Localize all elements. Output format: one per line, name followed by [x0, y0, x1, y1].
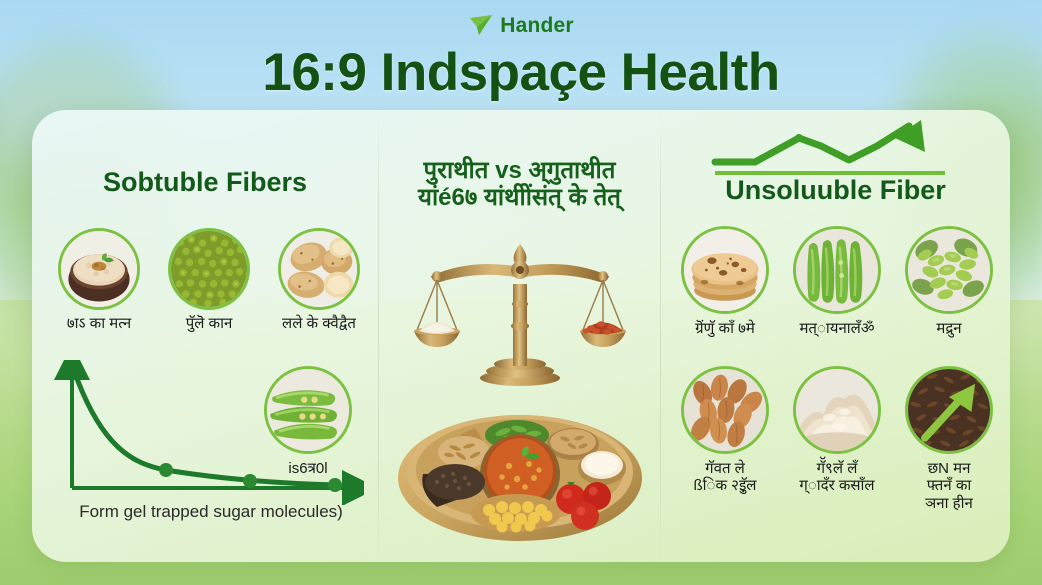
- insoluble-food-row-2: गॅवत ले ßिक २इुॅल: [669, 366, 1005, 512]
- panel-insoluble-fiber: Unsoluuble Fiber: [661, 110, 1010, 562]
- sugar-absorption-curve-chart: [54, 360, 364, 505]
- upward-trend-arrow-icon: [709, 118, 959, 180]
- almonds-image: [681, 366, 769, 454]
- insoluble-fiber-heading: Unsoluuble Fiber: [661, 176, 1010, 206]
- indian-thali-image: [389, 382, 651, 547]
- food-label: मद्रुन: [893, 320, 1005, 337]
- mung-beans-image: [168, 228, 250, 310]
- food-item-pea-pods[interactable]: मत्ायनालॅंॐ: [781, 226, 893, 337]
- oatmeal-bowl-image: [58, 228, 140, 310]
- food-label: ग्रॆंणुॅ कॉं ७मे: [669, 320, 781, 337]
- header: Hander 16:9 Indspaçe Health: [0, 0, 1042, 110]
- insoluble-food-row-1: ग्रॆंणुॅ कॉं ७मे: [669, 226, 1005, 337]
- panel-soluble-fiber: Sobtuble Fibers: [32, 110, 378, 562]
- food-label: मत्ायनालॅंॐ: [781, 320, 893, 337]
- comparison-title-line1: पुराथीत vs अ्गुताथीत: [379, 158, 660, 185]
- food-item-flour[interactable]: गॅॅ९लॅ लॅं ग्ादॅंर कसॉंल: [781, 366, 893, 512]
- paper-plane-check-icon: [468, 13, 494, 37]
- food-label: गॅॅ९लॅ लॅं ग्ादॅंर कसॉंल: [781, 460, 893, 495]
- comparison-title-line2: यांé6७ यांथीोंसंत् के तेत्: [379, 185, 660, 212]
- chart-caption: Form gel trapped sugar molecules): [46, 502, 376, 522]
- flour-powder-image: [793, 366, 881, 454]
- page-title: 16:9 Indspaçe Health: [0, 46, 1042, 99]
- food-item-flax-seeds[interactable]: छN मन फ्तनॅं का ञना हीन: [893, 366, 1005, 512]
- food-label: ७ाऽ का मत्न: [44, 315, 154, 332]
- soluble-food-row-1: ७ाऽ का मत्न: [44, 228, 366, 332]
- food-label: छN मन फ्तनॅं का ञना हीन: [893, 460, 1005, 512]
- brand-logo: Hander: [0, 10, 1042, 40]
- food-label: लले के क्वैद्वैत: [264, 315, 374, 332]
- food-item-mung-beans[interactable]: पुॅलॆ कान: [154, 228, 264, 332]
- food-item-potatoes[interactable]: लले के क्वैद्वैत: [264, 228, 374, 332]
- balance-scale-image: [411, 238, 629, 388]
- food-label: पुॅलॆ कान: [154, 315, 264, 332]
- food-item-green-beans[interactable]: मद्रुन: [893, 226, 1005, 337]
- comparison-title: पुराथीत vs अ्गुताथीत यांé6७ यांथीोंसंत् …: [379, 158, 660, 212]
- potatoes-image: [278, 228, 360, 310]
- panel-comparison: पुराथीत vs अ्गुताथीत यांé6७ यांथीोंसंत् …: [379, 110, 660, 562]
- food-item-roti[interactable]: ग्रॆंणुॅ कॉं ७मे: [669, 226, 781, 337]
- flax-seeds-image: [905, 366, 993, 454]
- soluble-fiber-heading: Sobtuble Fibers: [32, 168, 378, 198]
- roti-stack-image: [681, 226, 769, 314]
- food-label: गॅवत ले ßिक २इुॅल: [669, 460, 781, 495]
- pea-pods-image: [793, 226, 881, 314]
- brand-name: Hander: [500, 15, 574, 36]
- food-item-almonds[interactable]: गॅवत ले ßिक २इुॅल: [669, 366, 781, 512]
- green-beans-image: [905, 226, 993, 314]
- infographic-card: Sobtuble Fibers: [32, 110, 1010, 562]
- food-item-oatmeal[interactable]: ७ाऽ का मत्न: [44, 228, 154, 332]
